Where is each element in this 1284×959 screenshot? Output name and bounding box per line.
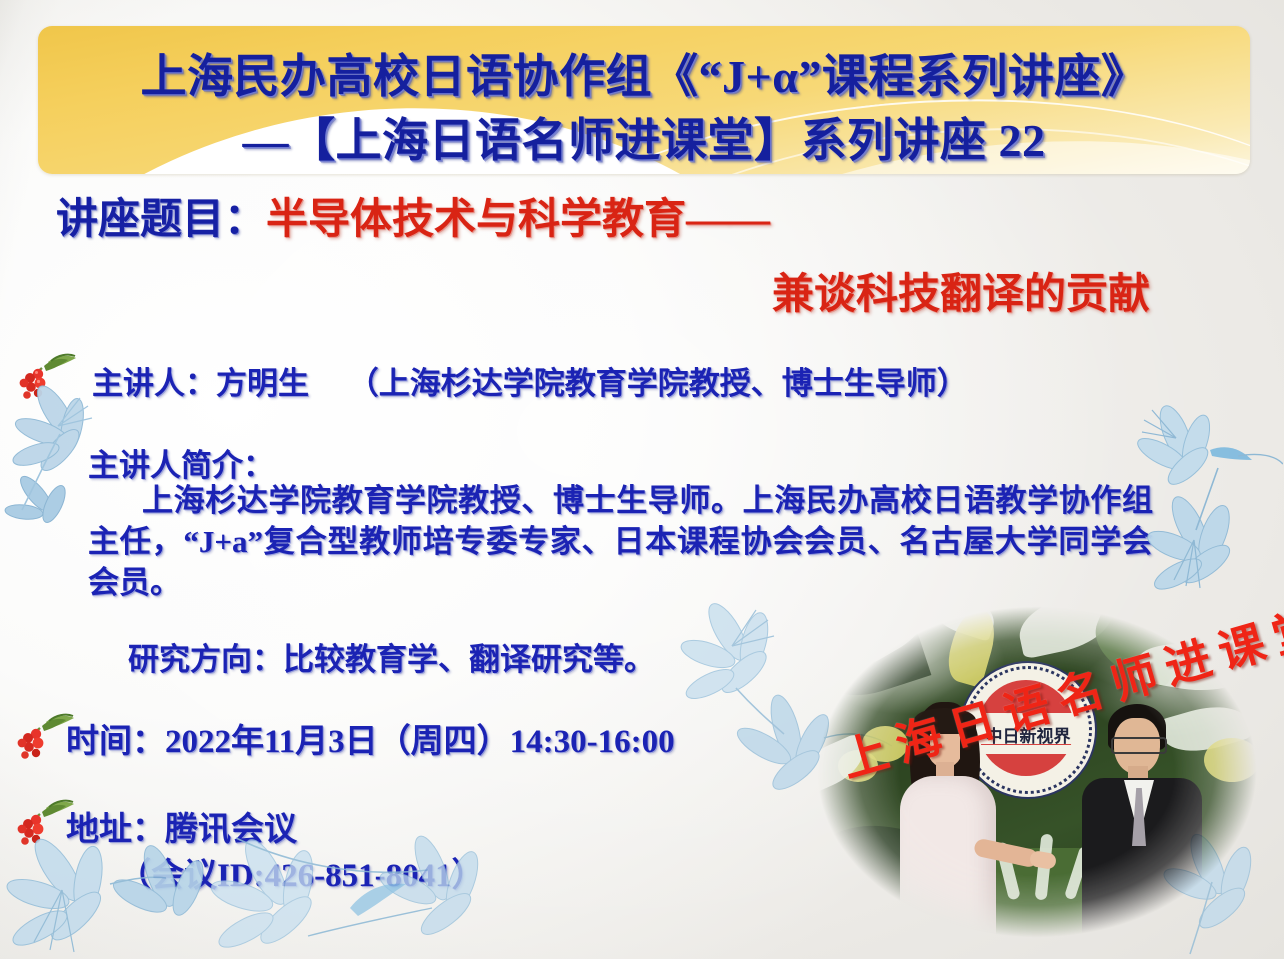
woman-dress	[900, 776, 996, 946]
event-time-line: 时间：2022年11月3日（周四）14:30-16:00	[66, 714, 675, 762]
lecture-title-main: 半导体技术与科学教育——	[266, 197, 770, 243]
backdrop-leaf	[1204, 738, 1260, 782]
banner-title-line-1: 上海民办高校日语协作组《“J+α”课程系列讲座》	[38, 40, 1250, 106]
event-venue-line: 地址：腾讯会议	[66, 802, 297, 850]
person-man	[1078, 704, 1206, 946]
berry-flower-icon	[18, 352, 80, 404]
speaker-line: 主讲人：方明生 （上海杉达学院教育学院教授、博士生导师）	[92, 358, 968, 403]
speaker-bio-label: 主讲人简介：	[88, 440, 274, 485]
man-glasses	[1111, 737, 1167, 754]
research-direction-line: 研究方向：比较教育学、翻译研究等。	[128, 634, 655, 679]
event-meeting-id: （会议ID:426-851-8041）	[118, 848, 485, 896]
speaker-photo: 中日新视界	[806, 598, 1268, 946]
speaker-bio-body: 上海杉达学院教育学院教授、博士生导师。上海民办高校日语教学协作组主任，“J+a”…	[88, 480, 1153, 604]
banner-title-line-2: —【上海日语名师进课堂】系列讲座 22	[38, 104, 1250, 170]
lecture-title-label: 讲座题目：	[56, 197, 266, 243]
lecture-title-line-1: 讲座题目：半导体技术与科学教育——	[56, 196, 1236, 244]
lecture-poster: 上海民办高校日语协作组《“J+α”课程系列讲座》 —【上海日语名师进课堂】系列讲…	[0, 0, 1284, 959]
person-woman	[890, 702, 1014, 946]
lecture-title-block: 讲座题目：半导体技术与科学教育—— 兼谈科技翻译的贡献	[56, 196, 1236, 321]
lecture-title-subtitle: 兼谈科技翻译的贡献	[56, 260, 1236, 321]
title-banner: 上海民办高校日语协作组《“J+α”课程系列讲座》 —【上海日语名师进课堂】系列讲…	[38, 26, 1250, 174]
